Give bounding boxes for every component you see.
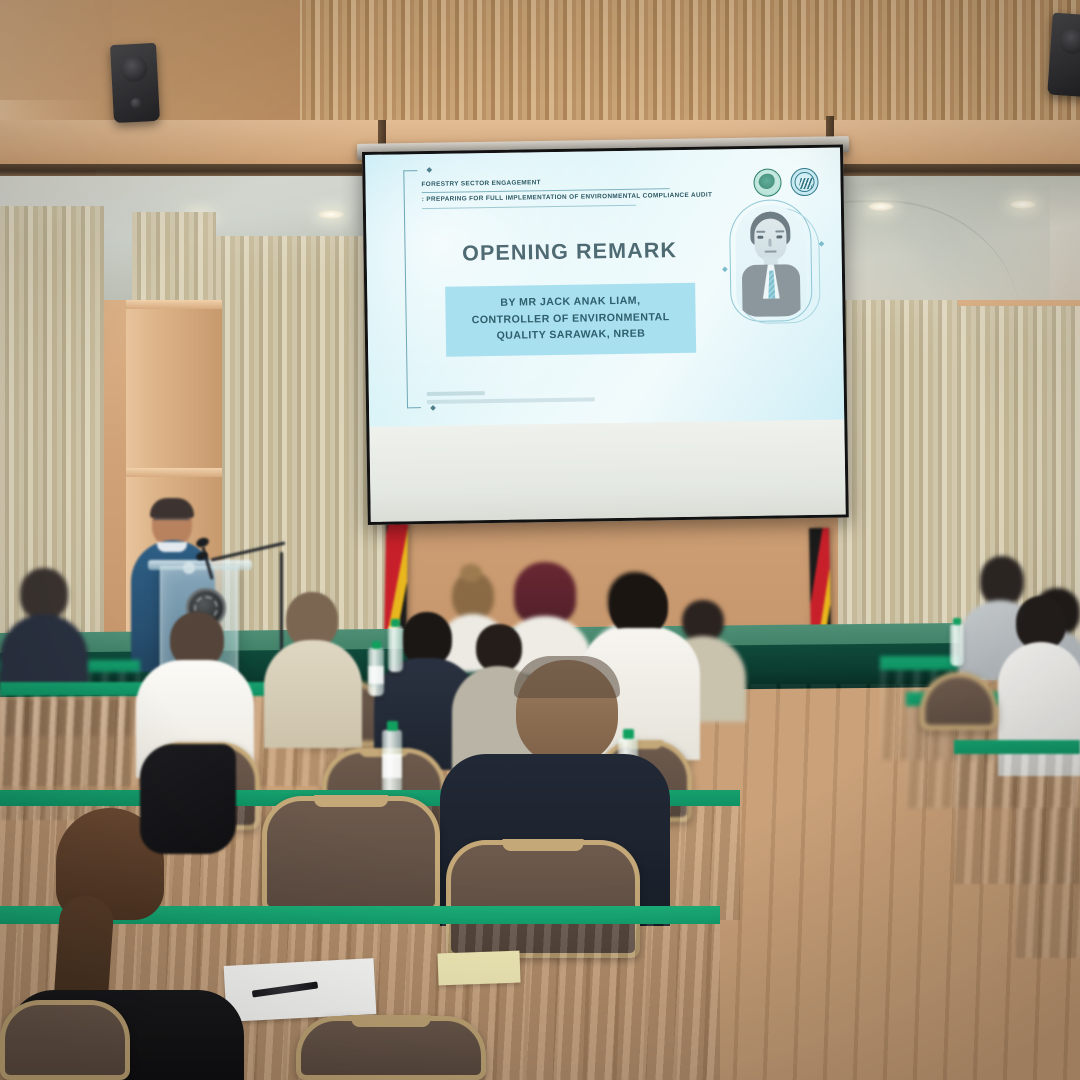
attendee-hair-bun xyxy=(460,564,482,582)
conference-hall-photo: FORESTRY SECTOR ENGAGEMENT : PREPARING F… xyxy=(0,0,1080,1080)
forestry-department-logo-icon xyxy=(790,168,818,196)
attendee-body xyxy=(0,614,88,688)
water-bottle-1 xyxy=(368,648,384,696)
portrait-brow-left xyxy=(756,231,765,233)
speaker-cone-icon xyxy=(121,55,148,82)
portrait-brow-right xyxy=(775,230,784,232)
attendee-mid-cream-shirt xyxy=(264,592,362,742)
ceiling-speaker-left xyxy=(110,43,160,123)
bottle-label xyxy=(368,666,384,684)
yellow-notepad[interactable] xyxy=(437,951,520,986)
portrait-mouth xyxy=(765,250,777,252)
water-bottle-2 xyxy=(388,626,403,672)
bottle-cap-icon xyxy=(391,619,400,627)
water-bottle-4 xyxy=(382,730,402,794)
attendee-hair xyxy=(514,656,620,698)
attendee-back-left-dark xyxy=(0,568,88,678)
left-column-band xyxy=(126,468,222,477)
slide-header: FORESTRY SECTOR ENGAGEMENT : PREPARING F… xyxy=(421,175,721,209)
speaker-portrait xyxy=(735,204,807,317)
projection-screen[interactable]: FORESTRY SECTOR ENGAGEMENT : PREPARING F… xyxy=(362,144,849,525)
sarawak-flag-right xyxy=(809,528,831,640)
podium-top-ledge xyxy=(148,560,252,570)
portrait-nose xyxy=(768,239,771,247)
bottle-cap-icon xyxy=(387,721,398,731)
water-bottle-3 xyxy=(950,624,964,666)
portrait-eye-right xyxy=(776,235,782,238)
attendee-body xyxy=(264,640,362,748)
nreb-logo-icon xyxy=(753,168,781,196)
slide-logo-group xyxy=(753,168,818,197)
chair-foreground-center xyxy=(296,1016,486,1080)
portrait-eye-left xyxy=(757,236,763,239)
bottle-cap-icon xyxy=(372,641,381,649)
attendee-lace-sleeve xyxy=(140,744,236,854)
presenter-glasses-icon xyxy=(153,518,190,524)
speaker-tweeter-icon xyxy=(130,98,142,110)
speaker-cone-icon xyxy=(1059,27,1080,55)
presenter-collar xyxy=(157,542,187,552)
downlight-4 xyxy=(1010,200,1036,209)
chair-notch-icon xyxy=(351,1015,430,1027)
slide-title: OPENING REMARK xyxy=(438,238,700,267)
chair-foreground-left xyxy=(262,796,440,912)
downlight-3 xyxy=(868,202,894,211)
chair-foreground-far-left xyxy=(0,1000,130,1080)
ceiling-speaker-right xyxy=(1047,13,1080,98)
table-right-nearest xyxy=(1016,808,1080,958)
portrait-accent-diamond-left xyxy=(722,266,728,272)
screen-blank-lower-area xyxy=(369,419,845,521)
attendee-head xyxy=(610,576,668,636)
slide-subtitle-box: BY MR JACK ANAK LIAM, CONTROLLER OF ENVI… xyxy=(445,283,696,357)
table-right-front-top xyxy=(954,740,1080,754)
slide-header-line-2: : PREPARING FOR FULL IMPLEMENTATION OF E… xyxy=(422,190,722,205)
bottle-label xyxy=(382,754,402,778)
presenter-hair xyxy=(150,498,194,518)
slide-footer-line-1 xyxy=(427,391,485,396)
slide-subtitle-line-3: QUALITY SARAWAK, NREB xyxy=(452,325,690,345)
left-column-cap xyxy=(126,300,222,309)
downlight-2 xyxy=(318,210,344,219)
attendee-hair xyxy=(514,562,576,624)
presentation-slide: FORESTRY SECTOR ENGAGEMENT : PREPARING F… xyxy=(365,147,844,426)
portrait-image xyxy=(735,204,807,317)
attendee-head xyxy=(20,568,68,620)
bottle-cap-icon xyxy=(953,618,961,625)
chair-notch-icon xyxy=(314,795,388,807)
chair-notch-icon xyxy=(503,839,584,851)
